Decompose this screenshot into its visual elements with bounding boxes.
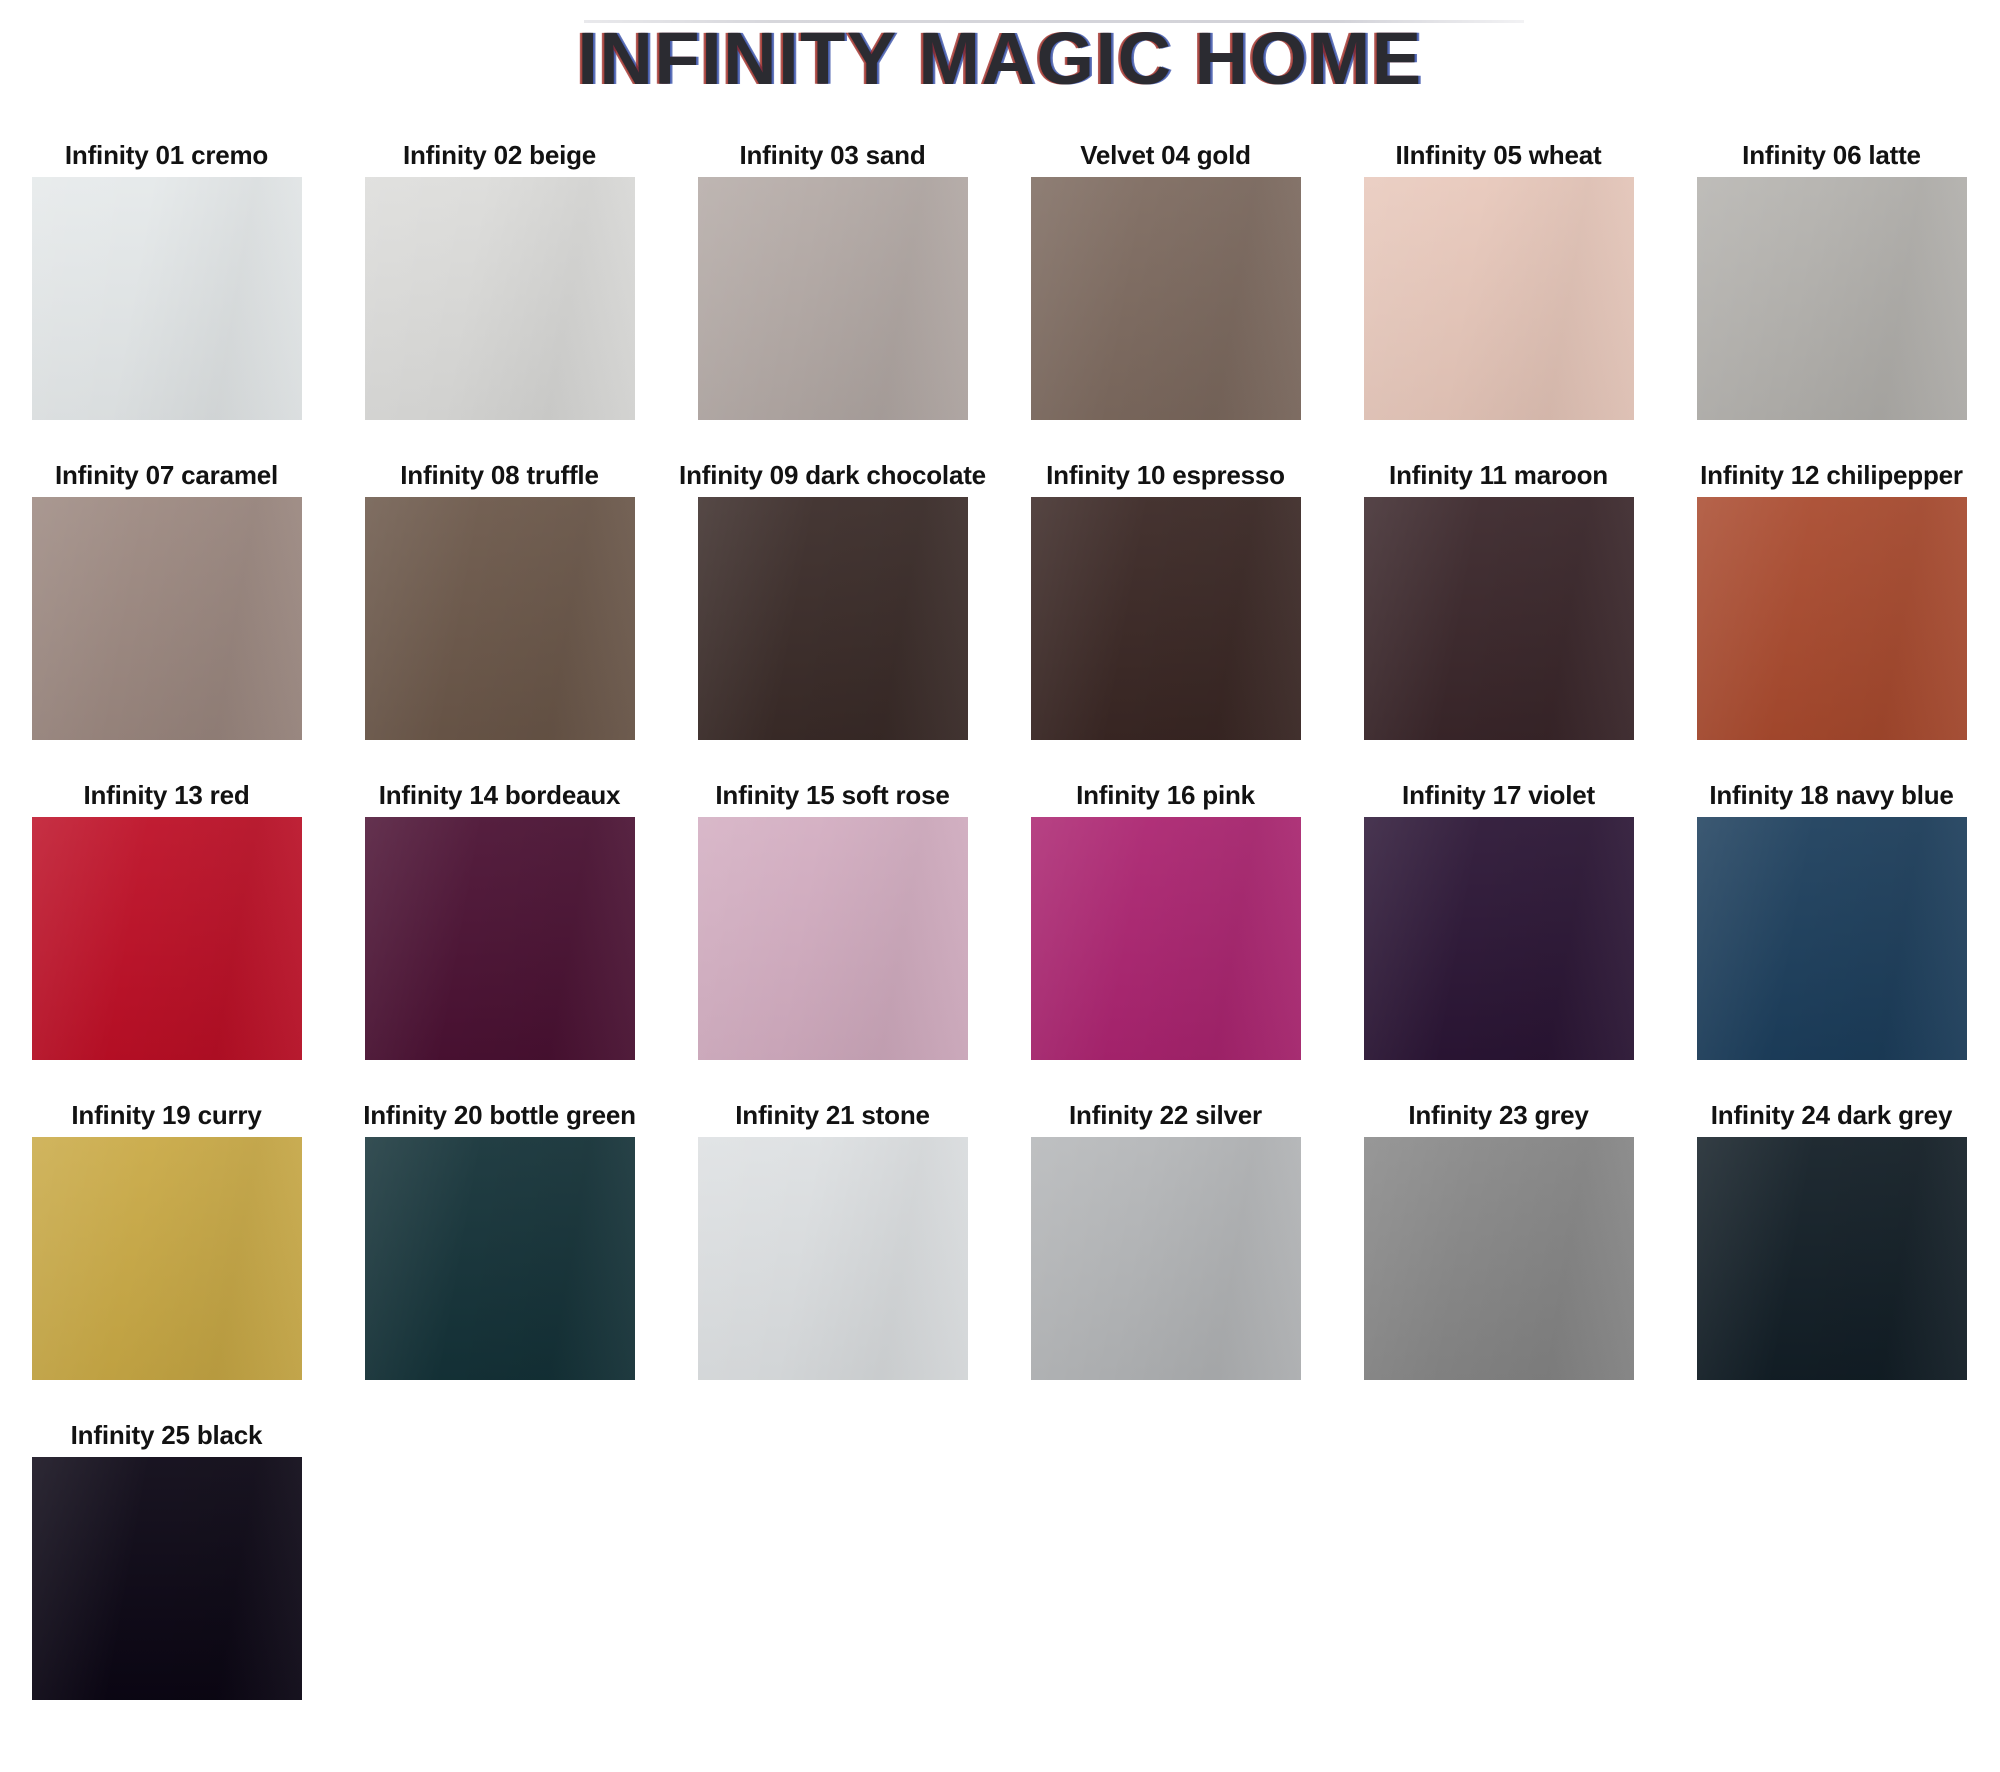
swatch-label: Infinity 12 chilipepper	[1700, 462, 1963, 488]
color-swatch-grid: Infinity 01 cremoInfinity 02 beigeInfini…	[0, 100, 2000, 1700]
color-swatch[interactable]	[1031, 1137, 1301, 1380]
swatch-cell[interactable]	[999, 1448, 1332, 1700]
swatch-cell[interactable]: Infinity 11 maroon	[1332, 462, 1665, 740]
swatch-cell[interactable]: Infinity 18 navy blue	[1665, 782, 1998, 1060]
swatch-cell[interactable]: Infinity 16 pink	[999, 782, 1332, 1060]
color-swatch[interactable]	[1364, 1137, 1634, 1380]
swatch-cell[interactable]: Infinity 23 grey	[1332, 1102, 1665, 1380]
swatch-cell[interactable]: Infinity 19 curry	[0, 1102, 333, 1380]
swatch-cell[interactable]: Infinity 06 latte	[1665, 142, 1998, 420]
swatch-label: Infinity 01 cremo	[65, 142, 268, 168]
swatch-label: Infinity 17 violet	[1402, 782, 1595, 808]
swatch-cell[interactable]: IInfinity 05 wheat	[1332, 142, 1665, 420]
swatch-label: Infinity 14 bordeaux	[379, 782, 621, 808]
swatch-row: Infinity 19 curryInfinity 20 bottle gree…	[0, 1060, 2000, 1380]
swatch-label: Infinity 09 dark chocolate	[679, 462, 986, 488]
swatch-label: Infinity 06 latte	[1742, 142, 1921, 168]
color-swatch[interactable]	[698, 497, 968, 740]
swatch-row: Infinity 13 redInfinity 14 bordeauxInfin…	[0, 740, 2000, 1060]
swatch-label: Infinity 22 silver	[1069, 1102, 1262, 1128]
swatch-label: Velvet 04 gold	[1080, 142, 1251, 168]
swatch-cell[interactable]: Infinity 12 chilipepper	[1665, 462, 1998, 740]
swatch-label: Infinity 13 red	[83, 782, 249, 808]
swatch-cell[interactable]	[1665, 1448, 1998, 1700]
color-swatch[interactable]	[1031, 177, 1301, 420]
color-swatch[interactable]	[1364, 497, 1634, 740]
swatch-label: Infinity 02 beige	[403, 142, 596, 168]
swatch-label: Infinity 21 stone	[735, 1102, 930, 1128]
color-swatch[interactable]	[1697, 817, 1967, 1060]
swatch-cell[interactable]: Velvet 04 gold	[999, 142, 1332, 420]
color-swatch[interactable]	[365, 817, 635, 1060]
swatch-cell[interactable]: Infinity 10 espresso	[999, 462, 1332, 740]
color-swatch[interactable]	[1697, 497, 1967, 740]
swatch-cell[interactable]: Infinity 09 dark chocolate	[666, 462, 999, 740]
swatch-label: Infinity 15 soft rose	[715, 782, 949, 808]
swatch-row: Infinity 01 cremoInfinity 02 beigeInfini…	[0, 100, 2000, 420]
swatch-cell[interactable]: Infinity 24 dark grey	[1665, 1102, 1998, 1380]
swatch-cell[interactable]: Infinity 14 bordeaux	[333, 782, 666, 1060]
swatch-label: Infinity 07 caramel	[55, 462, 278, 488]
color-swatch[interactable]	[698, 817, 968, 1060]
swatch-row: Infinity 25 black	[0, 1380, 2000, 1700]
color-swatch[interactable]	[32, 177, 302, 420]
color-swatch[interactable]	[698, 1137, 968, 1380]
swatch-cell[interactable]: Infinity 21 stone	[666, 1102, 999, 1380]
swatch-cell[interactable]	[333, 1448, 666, 1700]
swatch-label: Infinity 03 sand	[739, 142, 925, 168]
swatch-cell[interactable]: Infinity 03 sand	[666, 142, 999, 420]
swatch-label: Infinity 16 pink	[1076, 782, 1255, 808]
swatch-cell[interactable]: Infinity 22 silver	[999, 1102, 1332, 1380]
color-swatch[interactable]	[1697, 1137, 1967, 1380]
color-swatch[interactable]	[1364, 817, 1634, 1060]
page-header: INFINITY MAGIC HOME	[0, 0, 2000, 100]
swatch-cell[interactable]: Infinity 01 cremo	[0, 142, 333, 420]
swatch-label: Infinity 08 truffle	[400, 462, 598, 488]
color-swatch[interactable]	[32, 817, 302, 1060]
swatch-label: Infinity 24 dark grey	[1711, 1102, 1952, 1128]
color-swatch[interactable]	[365, 177, 635, 420]
swatch-label: Infinity 11 maroon	[1389, 462, 1608, 488]
swatch-cell[interactable]: Infinity 08 truffle	[333, 462, 666, 740]
color-swatch[interactable]	[32, 1137, 302, 1380]
swatch-cell[interactable]: Infinity 15 soft rose	[666, 782, 999, 1060]
color-swatch[interactable]	[1697, 177, 1967, 420]
swatch-cell[interactable]: Infinity 07 caramel	[0, 462, 333, 740]
color-swatch[interactable]	[32, 497, 302, 740]
color-swatch[interactable]	[365, 1137, 635, 1380]
color-swatch[interactable]	[1364, 177, 1634, 420]
color-swatch[interactable]	[1031, 497, 1301, 740]
swatch-label: Infinity 23 grey	[1408, 1102, 1588, 1128]
swatch-row: Infinity 07 caramelInfinity 08 truffleIn…	[0, 420, 2000, 740]
color-swatch[interactable]	[32, 1457, 302, 1700]
swatch-cell[interactable]: Infinity 20 bottle green	[333, 1102, 666, 1380]
swatch-cell[interactable]: Infinity 13 red	[0, 782, 333, 1060]
swatch-label: Infinity 20 bottle green	[363, 1102, 636, 1128]
color-swatch[interactable]	[365, 497, 635, 740]
swatch-label: Infinity 19 curry	[71, 1102, 261, 1128]
color-swatch[interactable]	[1031, 817, 1301, 1060]
swatch-cell[interactable]: Infinity 25 black	[0, 1422, 333, 1700]
swatch-cell[interactable]	[666, 1448, 999, 1700]
swatch-cell[interactable]: Infinity 02 beige	[333, 142, 666, 420]
swatch-label: IInfinity 05 wheat	[1396, 142, 1602, 168]
swatch-cell[interactable]	[1332, 1448, 1665, 1700]
page-title: INFINITY MAGIC HOME	[0, 16, 2000, 101]
swatch-label: Infinity 25 black	[71, 1422, 263, 1448]
color-swatch[interactable]	[698, 177, 968, 420]
swatch-label: Infinity 18 navy blue	[1709, 782, 1953, 808]
swatch-cell[interactable]: Infinity 17 violet	[1332, 782, 1665, 1060]
swatch-label: Infinity 10 espresso	[1046, 462, 1285, 488]
